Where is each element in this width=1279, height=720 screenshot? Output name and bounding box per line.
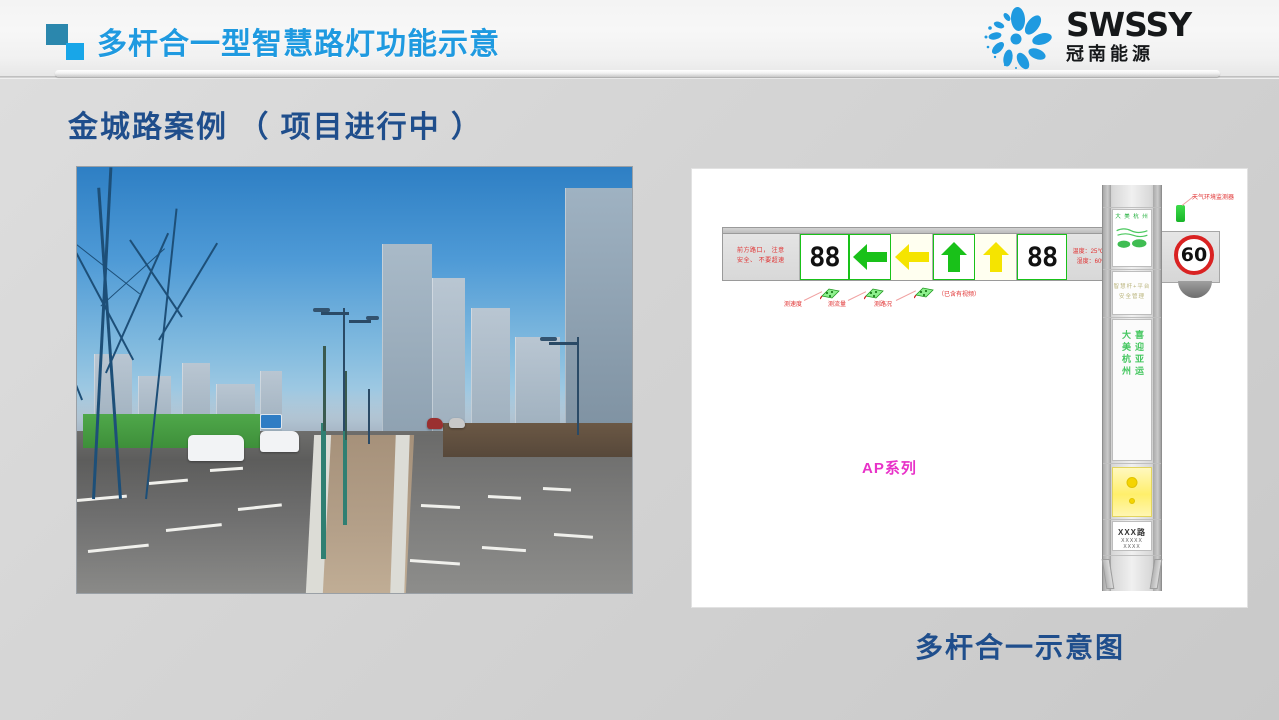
pole-vertical-text-left: 大美杭州: [1121, 330, 1130, 378]
pole-segment-line: [1103, 555, 1161, 556]
photo-building: [382, 244, 432, 431]
two-squares-icon: [46, 24, 88, 60]
warning-dot-small: [1129, 498, 1135, 504]
photo-median-tree: [321, 423, 326, 559]
photo-lamp-head: [313, 308, 330, 312]
photo-pole-arm: [349, 320, 371, 323]
led-message-line-2: 安全、 不要超速: [737, 257, 785, 267]
warning-light-box: [1112, 467, 1152, 517]
up-arrow-green: [933, 234, 975, 280]
photo-pole-arm: [321, 312, 349, 315]
road-name-text: XXX路: [1112, 527, 1152, 538]
photo-car: [260, 431, 299, 452]
title-underbar: [55, 70, 1220, 77]
sensor-label-flow: 测流量: [828, 299, 846, 308]
logo-text: SWSSY 冠南能源: [1066, 8, 1226, 65]
up-arrow-yellow-icon: [976, 240, 1016, 274]
photo-lamp-head: [540, 337, 557, 341]
smart-pole-body: 大 美 杭 州 智慧杆+平台安全管理 大美杭州 喜迎亚运: [1102, 185, 1162, 591]
speed-limit-sign: 60: [1174, 235, 1214, 275]
photo-car: [427, 418, 444, 428]
logo-company-cn: 冠南能源: [1066, 45, 1226, 65]
street-photo: [76, 166, 633, 594]
sensor-label-speed: 测速度: [784, 299, 802, 308]
ap-series-label: AP系列: [862, 457, 917, 478]
green-landscape-icon: [1113, 220, 1151, 254]
photo-median-tree: [323, 346, 326, 431]
up-arrow-yellow: [975, 234, 1017, 280]
photo-building: [471, 308, 510, 432]
weather-sensor-label: 天气环境监测器: [1192, 192, 1234, 201]
pole-top-panel-title: 大 美 杭 州: [1113, 212, 1151, 220]
warning-dot-large: [1127, 477, 1138, 488]
photo-median-tree: [343, 431, 347, 525]
countdown-display-left: 88: [800, 234, 849, 280]
pole-vertical-text-right: 喜迎亚运: [1134, 330, 1143, 378]
pole-banner-panel: 大美杭州 喜迎亚运: [1112, 319, 1152, 461]
pole-segment-line: [1103, 207, 1161, 208]
photo-pole-arm: [549, 342, 580, 345]
photo-street-pole: [368, 389, 370, 444]
smart-pole-diagram: 前方路口， 注意 安全、 不要超速 88: [691, 168, 1248, 608]
bullet-square-light: [66, 43, 84, 60]
led-gantry-board: 前方路口， 注意 安全、 不要超速 88: [722, 233, 1130, 281]
left-arrow-green: [849, 234, 891, 280]
video-included-note: （已含有视频）: [938, 289, 980, 298]
slide-header: 多杆合一型智慧路灯功能示意: [0, 0, 1279, 78]
photo-road-right: [399, 435, 632, 593]
road-name-subtext: XXXXX XXXX: [1112, 538, 1152, 550]
company-logo: SWSSY 冠南能源: [974, 4, 1224, 72]
photo-building: [515, 337, 559, 431]
left-arrow-yellow-icon: [892, 240, 932, 274]
bullet-square-dark: [46, 24, 68, 45]
led-message-panel: 前方路口， 注意 安全、 不要超速: [723, 234, 800, 280]
page-title: 多杆合一型智慧路灯功能示意: [97, 19, 500, 63]
left-arrow-yellow: [891, 234, 933, 280]
pole-segment-line: [1103, 269, 1161, 270]
pole-rail-right: [1153, 185, 1161, 591]
pole-segment-line: [1103, 519, 1161, 520]
countdown-display-right: 88: [1017, 234, 1066, 280]
section-subtitle: 金城路案例 （ 项目进行中 ）: [68, 102, 483, 146]
slide-canvas: 多杆合一型智慧路灯功能示意: [0, 0, 1279, 720]
photo-car: [449, 418, 466, 428]
radar-sensor-icon-3: [914, 286, 934, 299]
weather-sensor-icon: [1176, 205, 1185, 222]
pole-top-info-panel: 大 美 杭 州: [1112, 209, 1152, 267]
dome-camera-icon: [1178, 281, 1212, 298]
photo-street-pole: [577, 337, 579, 435]
led-message-line-1: 前方路口， 注意: [737, 247, 785, 257]
left-arrow-green-icon: [850, 240, 890, 274]
water-droplet-flower-logo: [974, 6, 1058, 70]
pole-rail-left: [1103, 185, 1111, 591]
countdown-digits-right: 88: [1027, 244, 1058, 271]
pole-segment-line: [1103, 317, 1161, 318]
photo-lamp-head: [366, 316, 380, 320]
diagram-caption: 多杆合一示意图: [915, 626, 1125, 666]
logo-wordmark: SWSSY: [1066, 8, 1226, 41]
countdown-digits-left: 88: [809, 244, 840, 271]
photo-median-tree: [345, 371, 347, 439]
photo-bare-trees: [77, 167, 266, 499]
up-arrow-green-icon: [934, 240, 974, 274]
photo-hedge: [443, 423, 632, 457]
sensor-leader-line: [896, 290, 916, 301]
sensor-label-road: 测路况: [874, 299, 892, 308]
pole-segment-line: [1103, 463, 1161, 464]
photo-building: [565, 188, 632, 431]
pole-mid-panel-text: 智慧杆+平台安全管理: [1113, 282, 1151, 303]
photo-building: [432, 278, 465, 431]
pole-mid-panel: 智慧杆+平台安全管理: [1112, 271, 1152, 315]
